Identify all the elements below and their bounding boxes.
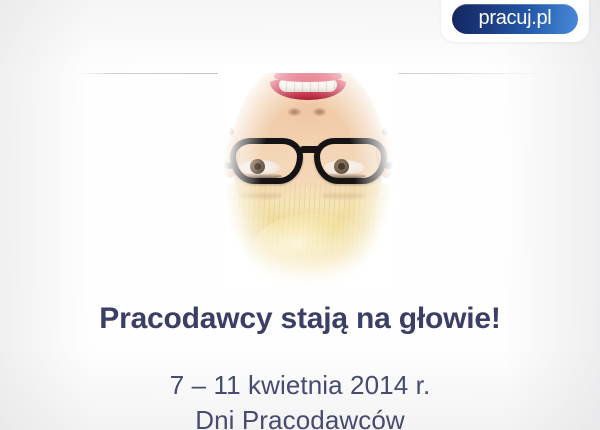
eyebrow-left [238, 192, 282, 199]
photo-content [218, 64, 398, 292]
event-dates: 7 – 11 kwietnia 2014 r. [0, 368, 600, 403]
event-name: Dni Pracodawców [0, 403, 600, 430]
upside-down-woman-photo [218, 64, 398, 292]
event-details: 7 – 11 kwietnia 2014 r. Dni Pracodawców [0, 368, 600, 430]
photo-bottom-fade [218, 254, 398, 292]
nostril-left [288, 108, 301, 116]
glasses-lens-left [230, 138, 303, 184]
page-title: Pracodawcy stają na głowie! [0, 303, 600, 335]
eyebrow-right [322, 192, 366, 199]
logo-text: pracuj.pl [479, 8, 552, 30]
photo-top-clip [218, 64, 398, 73]
pracuj-logo[interactable]: pracuj.pl [452, 4, 578, 34]
nostril-right [313, 108, 326, 116]
earring-left [227, 128, 234, 135]
glasses-lens-right [314, 138, 387, 184]
promo-banner: pracuj.pl Pracodawcy stają na głowie! 7 … [0, 0, 600, 430]
glasses-temple-right [384, 161, 398, 170]
eyeglasses [226, 136, 392, 190]
glasses-bridge [300, 146, 320, 153]
earring-right [382, 128, 389, 135]
